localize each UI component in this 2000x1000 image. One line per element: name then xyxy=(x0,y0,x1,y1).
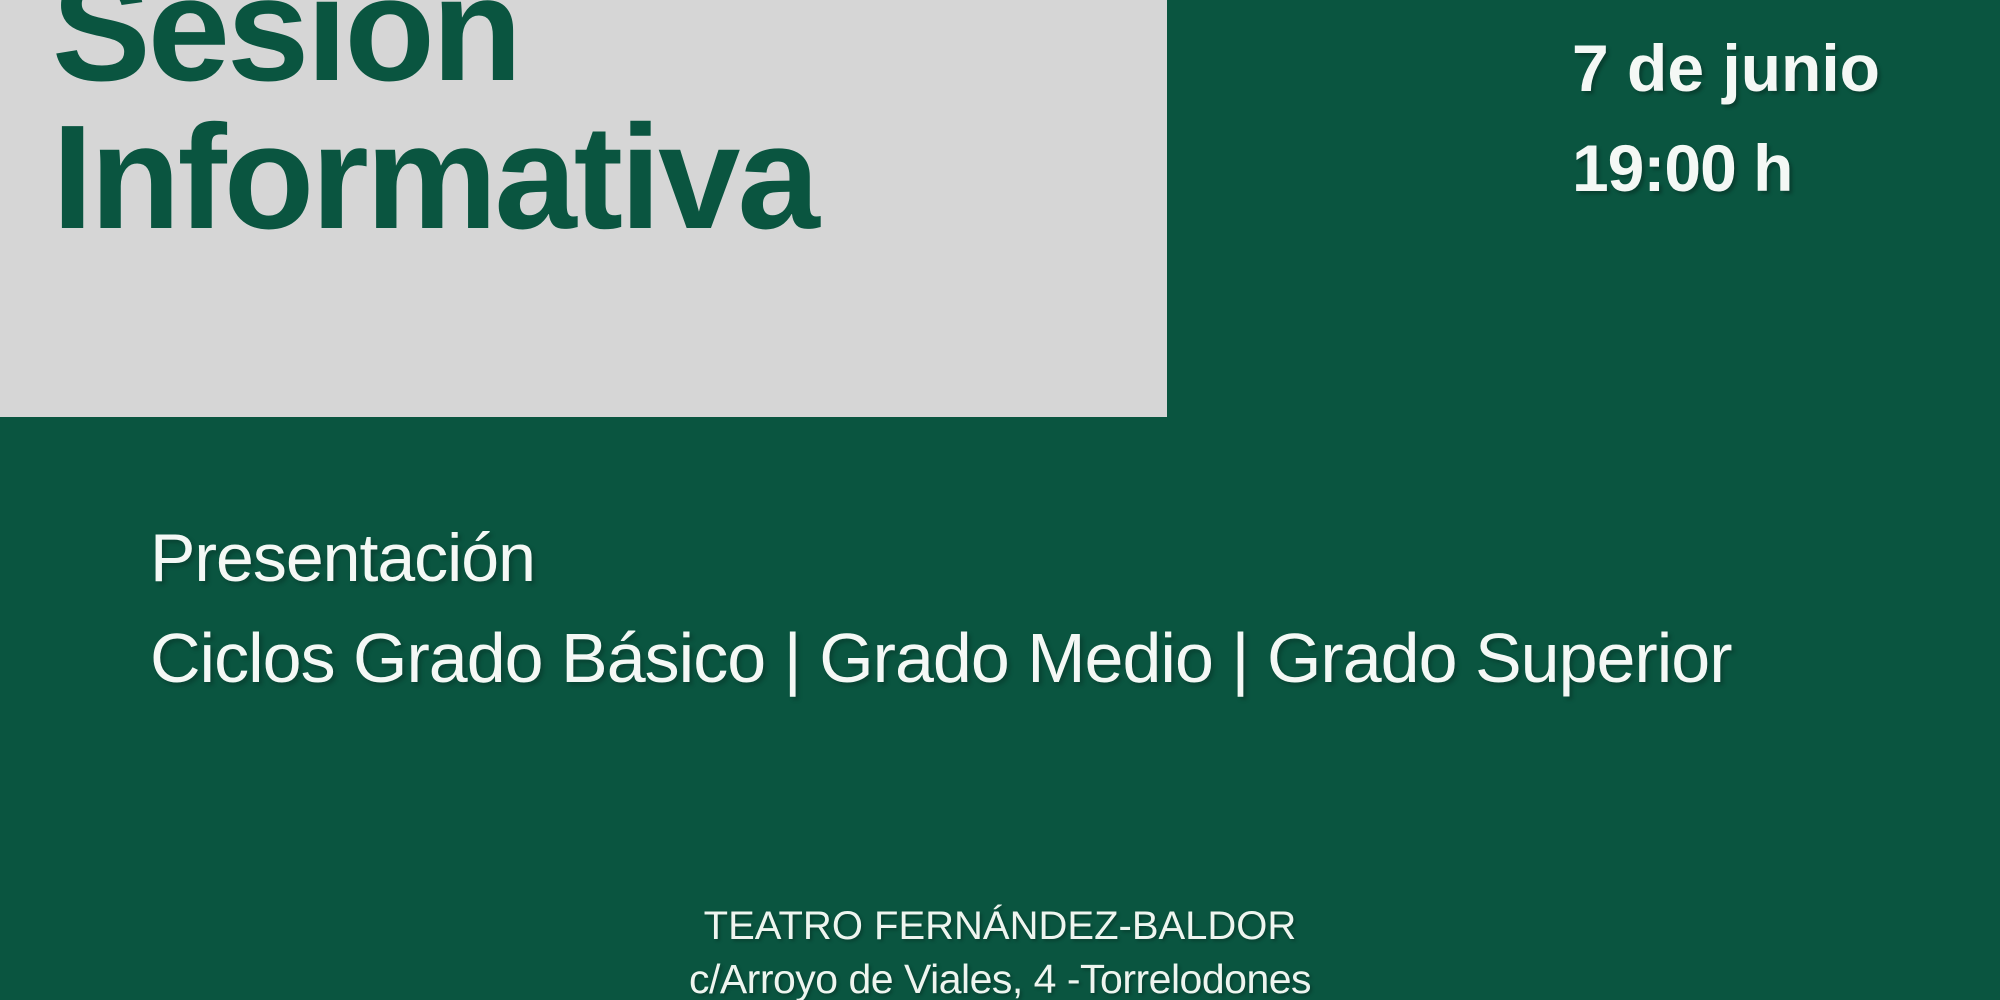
event-description: Presentación Ciclos Grado Básico | Grado… xyxy=(150,508,1732,708)
event-time: 19:00 h xyxy=(1572,118,1880,218)
event-date: 7 de junio xyxy=(1572,18,1880,118)
description-heading: Presentación xyxy=(150,508,1732,608)
venue-name: TEATRO FERNÁNDEZ-BALDOR xyxy=(0,900,2000,952)
poster-title: Sesión Informativa xyxy=(52,0,817,252)
description-subject: Ciclos Grado Básico | Grado Medio | Grad… xyxy=(150,608,1732,708)
venue-address: c/Arroyo de Viales, 4 -Torrelodones xyxy=(0,952,2000,1000)
venue-info: TEATRO FERNÁNDEZ-BALDOR c/Arroyo de Vial… xyxy=(0,900,2000,1000)
title-panel: Sesión Informativa xyxy=(0,0,1167,417)
title-line-1: Sesión xyxy=(52,0,817,104)
title-line-2: Informativa xyxy=(52,104,817,252)
poster-canvas: Sesión Informativa 7 de junio 19:00 h Pr… xyxy=(0,0,2000,1000)
event-datetime: 7 de junio 19:00 h xyxy=(1572,18,1880,218)
